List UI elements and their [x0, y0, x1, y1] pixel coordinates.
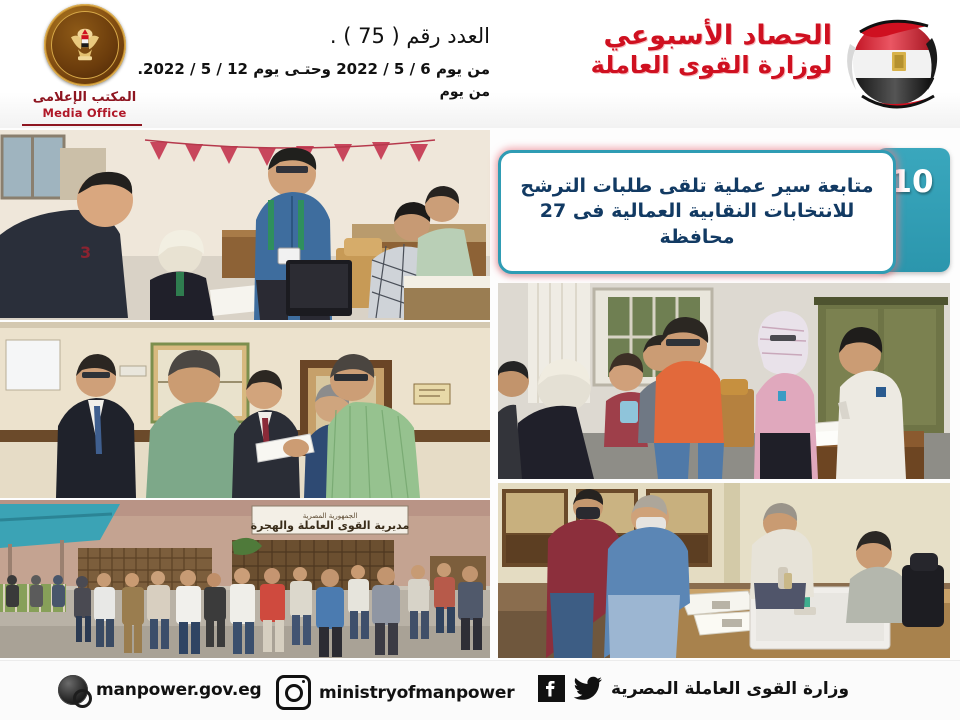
- footer-website[interactable]: manpower.gov.eg: [58, 675, 262, 705]
- egypt-flag-globe-icon: [836, 4, 954, 122]
- photo-officials-inspection-corridor: [0, 322, 490, 498]
- photo-computer-registration-desk: [498, 483, 950, 658]
- svg-text:مديرية القوى العاملة والهجرة: مديرية القوى العاملة والهجرة: [251, 519, 410, 532]
- svg-text:3: 3: [80, 243, 91, 262]
- issue-date-range: من يوم 6 / 5 / 2022 وحتـى يوم 12 / 5 / 2…: [160, 60, 490, 78]
- issue-info: العدد رقم ( 75 ) . من يوم 6 / 5 / 2022 و…: [160, 24, 490, 78]
- social-label-ar: وزارة القوى العاملة المصرية: [611, 679, 849, 699]
- photo-office-reception-candidates: 3: [0, 130, 490, 320]
- newsletter-page: المكتب الإعلامى Media Office العدد رقم (…: [0, 0, 960, 720]
- headline-card: 10 متابعة سير عملية تلقى طلبات الترشح لل…: [498, 148, 950, 272]
- photo-applicants-submitting-papers: [498, 283, 950, 479]
- issue-number-text: العدد رقم ( 75 ) .: [160, 24, 490, 48]
- media-office-label-ar: المكتب الإعلامى: [33, 90, 136, 105]
- ministry-logo-block: المكتب الإعلامى Media Office: [12, 2, 157, 128]
- media-office-underline: [22, 124, 142, 126]
- photo-crowd-outside-directorate: الجمهورية المصرية مديرية القوى العاملة و…: [0, 500, 490, 658]
- instagram-label: ministryofmanpower: [319, 683, 514, 703]
- page-header: المكتب الإعلامى Media Office العدد رقم (…: [0, 0, 960, 128]
- footer-instagram[interactable]: ministryofmanpower: [276, 675, 514, 710]
- eagle-emblem-icon: [70, 25, 100, 63]
- page-footer: manpower.gov.eg ministryofmanpower وزارة…: [0, 660, 960, 720]
- headline-text: متابعة سير عملية تلقى طلبات الترشح للانت…: [501, 174, 893, 249]
- media-office-label-en: Media Office: [43, 106, 127, 120]
- brand-subtext: من يوم: [440, 84, 490, 100]
- headline-body: متابعة سير عملية تلقى طلبات الترشح للانت…: [498, 150, 896, 274]
- globe-icon: [58, 675, 88, 705]
- publication-title: الحصاد الأسبوعي لوزارة القوى العاملة: [591, 22, 832, 79]
- instagram-icon: [276, 675, 311, 710]
- publication-title-line1: الحصاد الأسبوعي: [591, 22, 832, 50]
- footer-social[interactable]: وزارة القوى العاملة المصرية: [538, 675, 849, 702]
- facebook-icon: [538, 675, 565, 702]
- website-label: manpower.gov.eg: [96, 680, 262, 700]
- twitter-icon: [573, 676, 603, 702]
- ministry-seal-icon: [44, 4, 126, 86]
- publication-title-line2: لوزارة القوى العاملة: [591, 52, 832, 78]
